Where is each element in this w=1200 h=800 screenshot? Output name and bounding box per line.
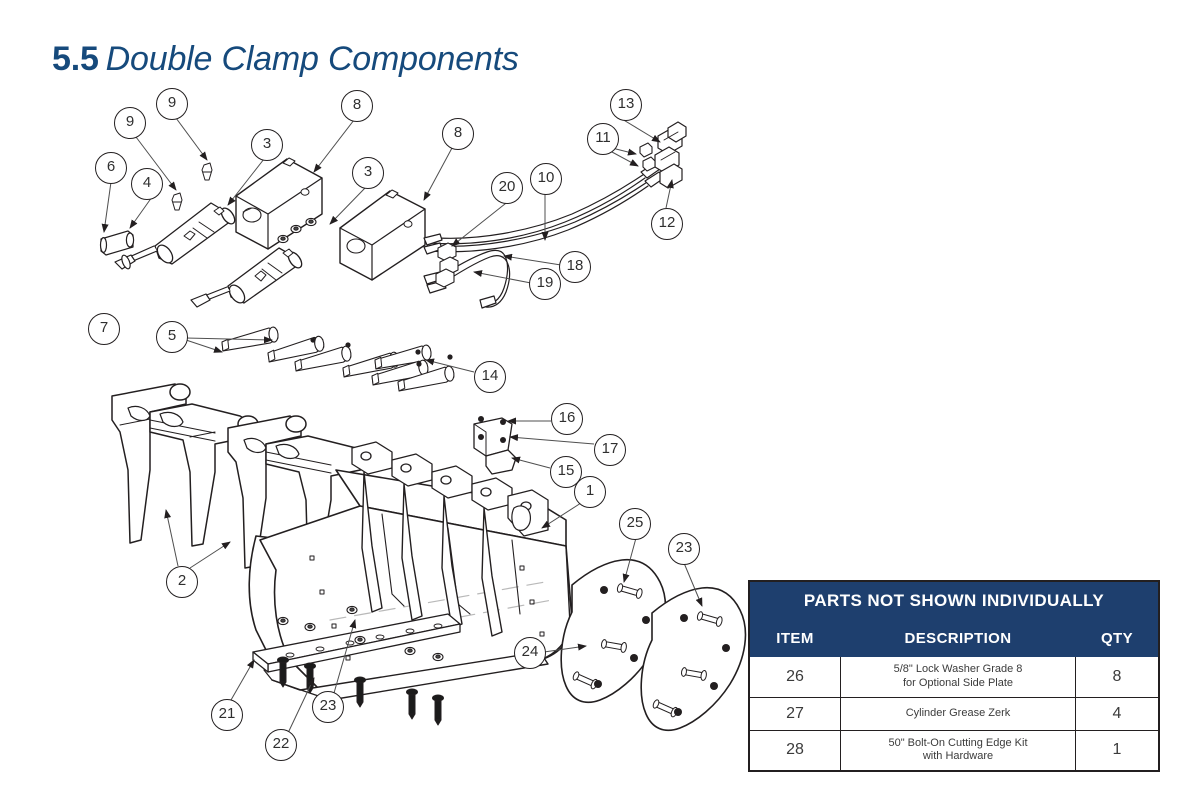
table-row: 2850" Bolt-On Cutting Edge Kitwith Hardw…: [749, 730, 1159, 771]
table-heading: PARTS NOT SHOWN INDIVIDUALLY: [749, 581, 1159, 622]
callout-8a[interactable]: 8: [341, 90, 373, 122]
callout-14[interactable]: 14: [474, 361, 506, 393]
callout-9a[interactable]: 9: [156, 88, 188, 120]
column-header-description: DESCRIPTION: [841, 622, 1076, 657]
callout-23b[interactable]: 23: [668, 533, 700, 565]
parts-table-body: 265/8" Lock Washer Grade 8for Optional S…: [749, 657, 1159, 772]
callout-12[interactable]: 12: [651, 208, 683, 240]
cell-qty: 4: [1076, 697, 1160, 730]
callout-19[interactable]: 19: [529, 268, 561, 300]
callout-2[interactable]: 2: [166, 566, 198, 598]
cell-description: 50" Bolt-On Cutting Edge Kitwith Hardwar…: [841, 730, 1076, 771]
callout-11[interactable]: 11: [587, 123, 619, 155]
column-header-qty: QTY: [1076, 622, 1160, 657]
callout-16[interactable]: 16: [551, 403, 583, 435]
cell-description: 5/8" Lock Washer Grade 8for Optional Sid…: [841, 657, 1076, 698]
table-row: 27Cylinder Grease Zerk4: [749, 697, 1159, 730]
callout-8b[interactable]: 8: [442, 118, 474, 150]
cell-qty: 1: [1076, 730, 1160, 771]
callout-6[interactable]: 6: [95, 152, 127, 184]
parts-diagram-page: 5.5Double Clamp Components: [0, 0, 1200, 800]
callout-7[interactable]: 7: [88, 313, 120, 345]
callout-13[interactable]: 13: [610, 89, 642, 121]
callout-21[interactable]: 21: [211, 699, 243, 731]
callout-20[interactable]: 20: [491, 172, 523, 204]
cell-item: 26: [749, 657, 841, 698]
table-row: 265/8" Lock Washer Grade 8for Optional S…: [749, 657, 1159, 698]
callout-22[interactable]: 22: [265, 729, 297, 761]
callout-4[interactable]: 4: [131, 168, 163, 200]
table-title-row: PARTS NOT SHOWN INDIVIDUALLY: [749, 581, 1159, 622]
callout-5[interactable]: 5: [156, 321, 188, 353]
cell-item: 28: [749, 730, 841, 771]
callout-23a[interactable]: 23: [312, 691, 344, 723]
callout-25[interactable]: 25: [619, 508, 651, 540]
callout-3a[interactable]: 3: [251, 129, 283, 161]
cell-qty: 8: [1076, 657, 1160, 698]
callout-9b[interactable]: 9: [114, 107, 146, 139]
callout-24[interactable]: 24: [514, 637, 546, 669]
parts-not-shown-table: PARTS NOT SHOWN INDIVIDUALLY ITEM DESCRI…: [748, 580, 1160, 772]
callout-1[interactable]: 1: [574, 476, 606, 508]
column-header-item: ITEM: [749, 622, 841, 657]
callout-10[interactable]: 10: [530, 163, 562, 195]
callout-18[interactable]: 18: [559, 251, 591, 283]
cell-description: Cylinder Grease Zerk: [841, 697, 1076, 730]
callout-17[interactable]: 17: [594, 434, 626, 466]
cell-item: 27: [749, 697, 841, 730]
table-column-header-row: ITEM DESCRIPTION QTY: [749, 622, 1159, 657]
callout-3b[interactable]: 3: [352, 157, 384, 189]
